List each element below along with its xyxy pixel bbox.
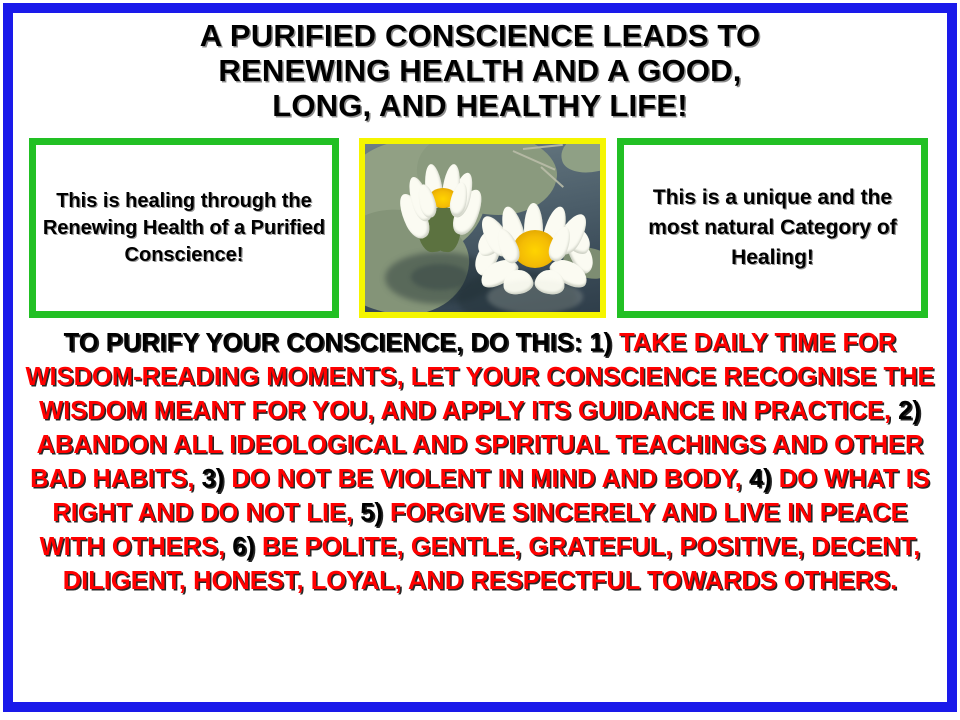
left-callout-text: This is healing through the Renewing Hea…: [36, 188, 332, 269]
headline-line-2: RENEWING HEALTH AND A GOOD,: [20, 53, 940, 88]
instruction-number-4: 4): [749, 465, 772, 493]
instruction-number-2: 2): [898, 397, 921, 425]
lily-pad-icon: [558, 144, 600, 178]
poster-canvas: A PURIFIED CONSCIENCE LEADS TO RENEWING …: [0, 0, 960, 720]
right-callout-box: This is a unique and the most natural Ca…: [617, 138, 928, 318]
water-reflection: [487, 280, 583, 312]
left-callout-box: This is healing through the Renewing Hea…: [29, 138, 339, 318]
lily-photo: [365, 144, 600, 312]
water-reflection: [411, 264, 469, 290]
instruction-number-6: 6): [232, 533, 255, 561]
middle-row: This is healing through the Renewing Hea…: [0, 138, 960, 320]
instruction-item-3: DO NOT BE VIOLENT IN MIND AND BODY,: [224, 465, 749, 493]
lily-photo-frame: [359, 138, 606, 318]
page-title: A PURIFIED CONSCIENCE LEADS TO RENEWING …: [20, 18, 940, 123]
right-callout-text: This is a unique and the most natural Ca…: [624, 183, 921, 273]
instruction-number-3: 3): [202, 465, 225, 493]
instructions-lead: TO PURIFY YOUR CONSCIENCE, DO THIS: 1): [64, 329, 612, 357]
instruction-number-5: 5): [360, 499, 383, 527]
headline-line-1: A PURIFIED CONSCIENCE LEADS TO: [20, 18, 940, 53]
headline-line-3: LONG, AND HEALTHY LIFE!: [20, 88, 940, 123]
instructions-paragraph: TO PURIFY YOUR CONSCIENCE, DO THIS: 1) T…: [22, 326, 938, 598]
